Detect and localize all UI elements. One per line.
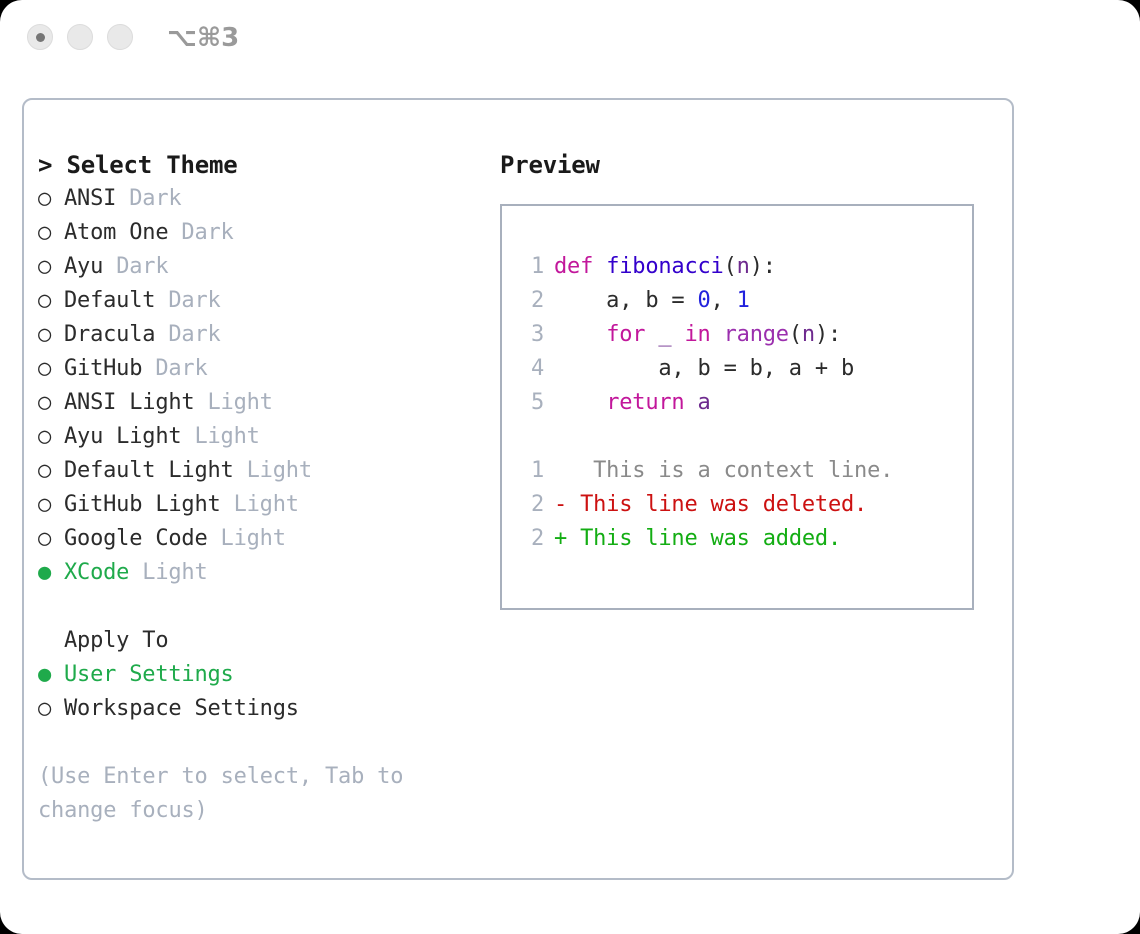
- theme-selector-column: > Select Theme ○ANSI Dark○Atom One Dark○…: [38, 148, 488, 828]
- theme-option-badge: Dark: [181, 220, 233, 245]
- code-line-number: 3: [510, 318, 544, 352]
- code-token-plain: [554, 390, 606, 415]
- diff-sign: [554, 458, 567, 483]
- radio-unselected-icon: ○: [38, 386, 64, 420]
- code-token-plain: a, b =: [554, 288, 698, 313]
- theme-option-google-code[interactable]: ○Google Code Light: [38, 522, 488, 556]
- code-line: 5 return a: [510, 386, 964, 420]
- spacer: [116, 186, 129, 211]
- theme-option-badge: Light: [221, 526, 286, 551]
- code-token-plain: [645, 322, 658, 347]
- spacer: [129, 560, 142, 585]
- diff-line-number: 2: [510, 488, 544, 522]
- theme-option-label: Default: [64, 288, 155, 313]
- code-line-number: 2: [510, 284, 544, 318]
- diff-line-ctx: 1 This is a context line.: [510, 454, 964, 488]
- theme-option-github[interactable]: ○GitHub Dark: [38, 352, 488, 386]
- select-theme-heading: > Select Theme: [38, 148, 488, 182]
- third-dot-icon[interactable]: [107, 24, 133, 50]
- title-bar: ⌥⌘3: [0, 0, 1140, 78]
- code-token-plain: [554, 322, 606, 347]
- radio-unselected-icon: ○: [38, 284, 64, 318]
- diff-line-number: 1: [510, 454, 544, 488]
- radio-unselected-icon: ○: [38, 488, 64, 522]
- traffic-light-controls: [27, 24, 133, 50]
- code-token-kw: for: [606, 322, 645, 347]
- spacer: [208, 526, 221, 551]
- radio-unselected-icon: ○: [38, 352, 64, 386]
- record-dot-icon[interactable]: [27, 24, 53, 50]
- theme-option-label: GitHub Light: [64, 492, 221, 517]
- diff-line-del: 2- This line was deleted.: [510, 488, 964, 522]
- code-line-number: 4: [510, 352, 544, 386]
- radio-unselected-icon: ○: [38, 692, 64, 726]
- code-token-var: a: [698, 390, 711, 415]
- theme-option-atom-one[interactable]: ○Atom One Dark: [38, 216, 488, 250]
- preview-title: Preview: [500, 148, 1000, 182]
- code-token-plain: [671, 322, 684, 347]
- theme-option-label: ANSI Light: [64, 390, 194, 415]
- radio-selected-icon: ●: [38, 658, 64, 692]
- theme-option-badge: Dark: [168, 288, 220, 313]
- radio-unselected-icon: ○: [38, 522, 64, 556]
- code-line: 4 a, b = b, a + b: [510, 352, 964, 386]
- code-token-num: 1: [737, 288, 750, 313]
- diff-line-add: 2+ This line was added.: [510, 522, 964, 556]
- diff-line-number: 2: [510, 522, 544, 556]
- theme-option-label: Ayu: [64, 254, 103, 279]
- code-token-kw: in: [684, 322, 710, 347]
- apply-to-option-workspace-settings[interactable]: ○Workspace Settings: [38, 692, 488, 726]
- theme-option-badge: Light: [194, 424, 259, 449]
- spacer: [155, 322, 168, 347]
- spacer: [181, 424, 194, 449]
- record-dot-inner: [36, 33, 45, 42]
- theme-option-label: Atom One: [64, 220, 168, 245]
- spacer: [234, 458, 247, 483]
- theme-option-ayu-light[interactable]: ○Ayu Light Light: [38, 420, 488, 454]
- radio-unselected-icon: ○: [38, 420, 64, 454]
- theme-option-label: Default Light: [64, 458, 234, 483]
- diff-text: This line was added.: [567, 526, 841, 551]
- code-token-plain: [711, 322, 724, 347]
- code-token-plain: [684, 390, 697, 415]
- spacer: [194, 390, 207, 415]
- theme-option-label: Google Code: [64, 526, 208, 551]
- theme-option-ansi-light[interactable]: ○ANSI Light Light: [38, 386, 488, 420]
- theme-option-xcode[interactable]: ●XCode Light: [38, 556, 488, 590]
- theme-option-badge: Light: [247, 458, 312, 483]
- diff-text: This is a context line.: [567, 458, 893, 483]
- radio-unselected-icon: ○: [38, 318, 64, 352]
- diff-sign: +: [554, 526, 567, 551]
- preview-code-content: 1def fibonacci(n):2 a, b = 0, 13 for _ i…: [510, 250, 964, 556]
- code-token-kw: def: [554, 254, 606, 279]
- code-token-plain: ,: [711, 288, 737, 313]
- code-token-plain: ):: [750, 254, 776, 279]
- theme-option-badge: Dark: [129, 186, 181, 211]
- apply-to-option-user-settings[interactable]: ●User Settings: [38, 658, 488, 692]
- code-token-num: 0: [698, 288, 711, 313]
- code-line: 3 for _ in range(n):: [510, 318, 964, 352]
- apply-to-heading: Apply To: [38, 624, 488, 658]
- theme-option-default[interactable]: ○Default Dark: [38, 284, 488, 318]
- code-diff-spacer: [510, 420, 964, 454]
- theme-option-github-light[interactable]: ○GitHub Light Light: [38, 488, 488, 522]
- code-token-plain: (: [724, 254, 737, 279]
- theme-option-ayu[interactable]: ○Ayu Dark: [38, 250, 488, 284]
- theme-option-badge: Light: [234, 492, 299, 517]
- code-token-var: _: [658, 322, 671, 347]
- code-token-plain: (: [789, 322, 802, 347]
- theme-option-badge: Light: [142, 560, 207, 585]
- theme-option-label: ANSI: [64, 186, 116, 211]
- preview-code-box: 1def fibonacci(n):2 a, b = 0, 13 for _ i…: [500, 204, 974, 610]
- apply-to-heading-label: Apply To: [64, 628, 168, 653]
- radio-unselected-icon: ○: [38, 250, 64, 284]
- second-dot-icon[interactable]: [67, 24, 93, 50]
- theme-option-label: GitHub: [64, 356, 142, 381]
- spacer: [155, 288, 168, 313]
- diff-text: This line was deleted.: [567, 492, 867, 517]
- code-token-var: n: [737, 254, 750, 279]
- list-spacer: [38, 590, 488, 624]
- spacer: [168, 220, 181, 245]
- theme-option-label: Dracula: [64, 322, 155, 347]
- theme-option-label: Ayu Light: [64, 424, 181, 449]
- code-line-number: 5: [510, 386, 544, 420]
- theme-option-dracula[interactable]: ○Dracula Dark: [38, 318, 488, 352]
- spacer: [221, 492, 234, 517]
- keyboard-hint-text: (Use Enter to select, Tab to change focu…: [38, 760, 448, 828]
- code-line: 2 a, b = 0, 1: [510, 284, 964, 318]
- apply-to-option-list: ●User Settings○Workspace Settings: [38, 658, 488, 726]
- apply-to-option-label: Workspace Settings: [64, 696, 299, 721]
- code-token-fn: fibonacci: [606, 254, 723, 279]
- app-window: ⌥⌘3 > Select Theme ○ANSI Dark○Atom One D…: [0, 0, 1140, 934]
- diff-sign: -: [554, 492, 567, 517]
- code-line-number: 1: [510, 250, 544, 284]
- spacer: [142, 356, 155, 381]
- theme-option-badge: Dark: [168, 322, 220, 347]
- theme-option-badge: Light: [208, 390, 273, 415]
- code-token-call: range: [724, 322, 789, 347]
- code-token-var: n: [802, 322, 815, 347]
- main-panel: > Select Theme ○ANSI Dark○Atom One Dark○…: [22, 98, 1014, 880]
- diff-sample: 1 This is a context line.2- This line wa…: [510, 454, 964, 556]
- theme-option-ansi[interactable]: ○ANSI Dark: [38, 182, 488, 216]
- theme-option-list: ○ANSI Dark○Atom One Dark○Ayu Dark○Defaul…: [38, 182, 488, 590]
- radio-unselected-icon: ○: [38, 454, 64, 488]
- code-token-plain: a, b = b, a + b: [554, 356, 854, 381]
- apply-to-option-label: User Settings: [64, 662, 234, 687]
- radio-unselected-icon: ○: [38, 216, 64, 250]
- preview-column: Preview 1def fibonacci(n):2 a, b = 0, 13…: [500, 148, 1000, 610]
- code-line: 1def fibonacci(n):: [510, 250, 964, 284]
- spacer: [103, 254, 116, 279]
- code-sample: 1def fibonacci(n):2 a, b = 0, 13 for _ i…: [510, 250, 964, 420]
- theme-option-label: XCode: [64, 560, 129, 585]
- radio-unselected-icon: ○: [38, 182, 64, 216]
- code-token-plain: ):: [815, 322, 841, 347]
- radio-selected-icon: ●: [38, 556, 64, 590]
- theme-option-badge: Dark: [116, 254, 168, 279]
- apply-to-heading-marker: [38, 624, 64, 658]
- keyboard-shortcut-label: ⌥⌘3: [167, 22, 239, 54]
- theme-option-badge: Dark: [155, 356, 207, 381]
- code-token-kw: return: [606, 390, 684, 415]
- theme-option-default-light[interactable]: ○Default Light Light: [38, 454, 488, 488]
